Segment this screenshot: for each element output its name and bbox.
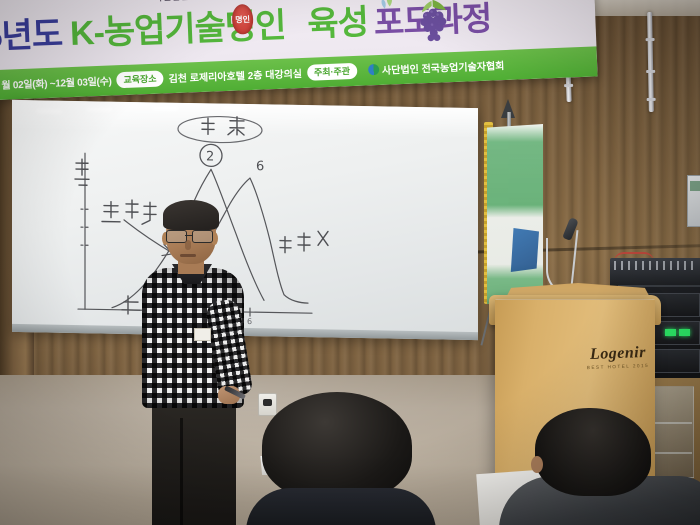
- wall-notice-sign: [687, 175, 700, 227]
- audience-center-shirt: [246, 488, 436, 525]
- ceremonial-flag: [487, 124, 543, 304]
- banner-host: 사단법인 전국농업기술자협회: [382, 57, 505, 77]
- presenter-legs: [152, 402, 236, 525]
- presenter-nose: [185, 240, 191, 250]
- audience-right-head: [535, 408, 651, 496]
- leaf-decoration-icon: [380, 0, 397, 13]
- banner-title-main: K-농업기술명인: [69, 9, 286, 51]
- presenter-name-badge: [194, 328, 211, 341]
- presenter: [138, 204, 248, 525]
- rack-led-1: [665, 329, 676, 336]
- banner-venue-label: 교육장소: [116, 70, 164, 88]
- svg-text:6: 6: [256, 159, 264, 174]
- lecture-room-photo: 사단법인 전국농업기술자협회 5년도 K-농업기술명인 육성 포도과정 명인: [0, 0, 700, 525]
- rack-led-2: [679, 329, 690, 336]
- svg-text:2: 2: [206, 149, 214, 164]
- flag-green-bands: [487, 124, 543, 304]
- glasses-icon: [166, 230, 216, 242]
- banner-title-tail: 육성: [307, 5, 369, 41]
- banner-host-label: 주최·주관: [307, 62, 358, 80]
- master-seal-stamp: 명인: [232, 4, 254, 35]
- flag-emblem-icon: [509, 228, 539, 272]
- presenter-leg-seam: [180, 418, 183, 525]
- audience-right-ear: [531, 456, 543, 473]
- banner-date: 월 02일(화) ~12월 03일(수): [1, 72, 112, 91]
- banner-venue: 김천 로제리아호텔 2층 대강의실: [168, 65, 302, 85]
- mixer-knobs[interactable]: [614, 261, 698, 270]
- banner-title-year: 5년도: [0, 17, 63, 54]
- association-logo-icon: [368, 64, 379, 75]
- audience-center-head: [262, 392, 412, 500]
- audience-member-right: [505, 408, 700, 525]
- audio-mixer[interactable]: [610, 258, 700, 288]
- grape-cluster-icon: [412, 0, 454, 46]
- presenter-hair: [163, 200, 219, 230]
- audience-member-center: [262, 392, 412, 525]
- podium-brand-logo: Logenir: [575, 344, 662, 365]
- presenter-mouth: [180, 254, 196, 257]
